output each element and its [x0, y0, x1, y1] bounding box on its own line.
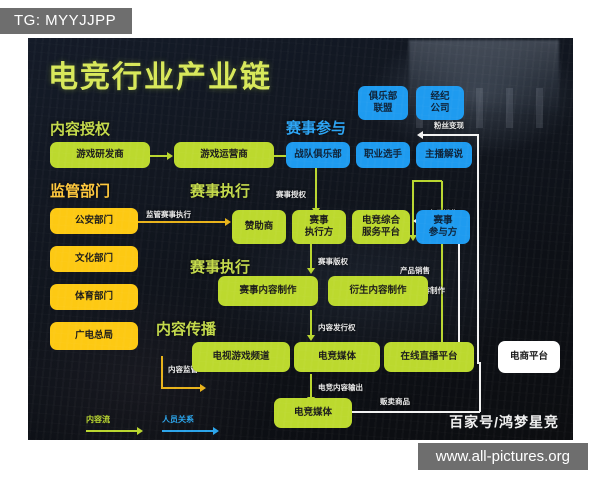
edge-production-down: [310, 310, 312, 338]
telegram-watermark-badge: TG: MYYJJPP: [0, 8, 132, 34]
edge-label-fan-monetization: 粉丝变现: [434, 120, 464, 131]
node-esports-service-platform[interactable]: 电竞综合 服务平台: [352, 210, 410, 244]
node-sarft[interactable]: 广电总局: [50, 322, 138, 350]
arrow-right-icon: [137, 427, 143, 435]
heading-content-authorization: 内容授权: [50, 118, 110, 139]
arena-pillar-icon: [536, 88, 543, 128]
edge-fan-monetization-vertical: [477, 134, 479, 364]
node-event-executor[interactable]: 赛事 执行方: [292, 210, 346, 244]
arrow-down-icon: [307, 268, 315, 274]
node-club-alliance[interactable]: 俱乐部 联盟: [358, 86, 408, 120]
edge-developer-to-operator: [150, 155, 168, 157]
edge-fan-monetization-horizontal: [422, 134, 478, 136]
arena-pillar-icon: [506, 88, 513, 128]
node-tv-game-channel[interactable]: 电视游戏频道: [192, 342, 290, 372]
screenshot-root: TG: MYYJJPP 电竞行业产业链 内容授权 监管部门 赛事参与 赛事执行 …: [0, 0, 600, 480]
edge-label-sell-goods: 贩卖商品: [380, 396, 410, 407]
edge-police-to-sponsor: [138, 221, 226, 223]
edge-label-supervise-event-execution: 监管赛事执行: [146, 209, 191, 220]
edge-label-product-sales-mid: 产品销售: [400, 265, 430, 276]
node-event-participant[interactable]: 赛事 参与方: [416, 210, 470, 244]
edge-sell-goods-vertical: [479, 362, 481, 412]
poster-title: 电竞行业产业链: [48, 52, 272, 96]
site-watermark-badge: www.all-pictures.org: [418, 443, 588, 470]
edge-sarft-to-tv: [161, 387, 201, 389]
arrow-right-icon: [200, 384, 206, 392]
node-game-operator[interactable]: 游戏运营商: [174, 142, 274, 168]
arena-pillar-icon: [476, 88, 483, 128]
arrow-right-icon: [225, 218, 231, 226]
node-streamer-caster[interactable]: 主播解说: [416, 142, 472, 168]
node-sponsor[interactable]: 赞助商: [232, 210, 286, 244]
byline-watermark: 百家号/鸿梦星竞: [449, 412, 559, 432]
edge-streamer-right: [412, 180, 442, 182]
arrow-right-icon: [167, 152, 173, 160]
legend-label-personnel-relation: 人员关系: [162, 414, 194, 425]
arrow-down-icon: [307, 335, 315, 341]
heading-regulatory-depts: 监管部门: [50, 180, 110, 201]
node-game-developer[interactable]: 游戏研发商: [50, 142, 150, 168]
edge-label-event-copyright: 赛事版权: [318, 256, 348, 267]
heading-event-participation: 赛事参与: [286, 117, 346, 138]
node-esports-media-bottom[interactable]: 电竞媒体: [274, 398, 352, 428]
legend-line-personnel-relation: [162, 430, 214, 432]
arrow-right-icon: [213, 427, 219, 435]
node-sports-dept[interactable]: 体育部门: [50, 284, 138, 310]
edge-label-content-publishing-right: 内容发行权: [318, 322, 356, 333]
heading-event-execution-mid: 赛事执行: [190, 256, 250, 277]
infographic-poster: 电竞行业产业链 内容授权 监管部门 赛事参与 赛事执行 赛事执行 内容传播 赛事…: [28, 38, 573, 440]
heading-event-execution-top: 赛事执行: [190, 180, 250, 201]
node-public-security[interactable]: 公安部门: [50, 208, 138, 234]
edge-streamer-down: [412, 181, 414, 237]
node-derivative-content-production[interactable]: 衍生内容制作: [328, 276, 428, 306]
arrow-left-icon: [417, 131, 423, 139]
node-culture-dept[interactable]: 文化部门: [50, 246, 138, 272]
legend-label-content-flow: 内容流: [86, 414, 110, 425]
legend-line-content-flow: [86, 430, 138, 432]
edge-executor-down: [310, 243, 312, 271]
edge-label-esports-content-output: 电竞内容输出: [318, 382, 363, 393]
node-esports-media-top[interactable]: 电竞媒体: [294, 342, 380, 372]
node-event-content-production[interactable]: 赛事内容制作: [218, 276, 318, 306]
edge-sarft-down: [161, 356, 163, 388]
node-pro-player[interactable]: 职业选手: [356, 142, 410, 168]
node-ecommerce-platform[interactable]: 电商平台: [498, 341, 560, 373]
node-team-club[interactable]: 战队俱乐部: [286, 142, 350, 168]
heading-content-distribution: 内容传播: [156, 318, 216, 339]
node-online-live-platform[interactable]: 在线直播平台: [384, 342, 474, 372]
node-agency-company[interactable]: 经纪 公司: [416, 86, 464, 120]
edge-label-event-authorization: 赛事授权: [276, 189, 306, 200]
